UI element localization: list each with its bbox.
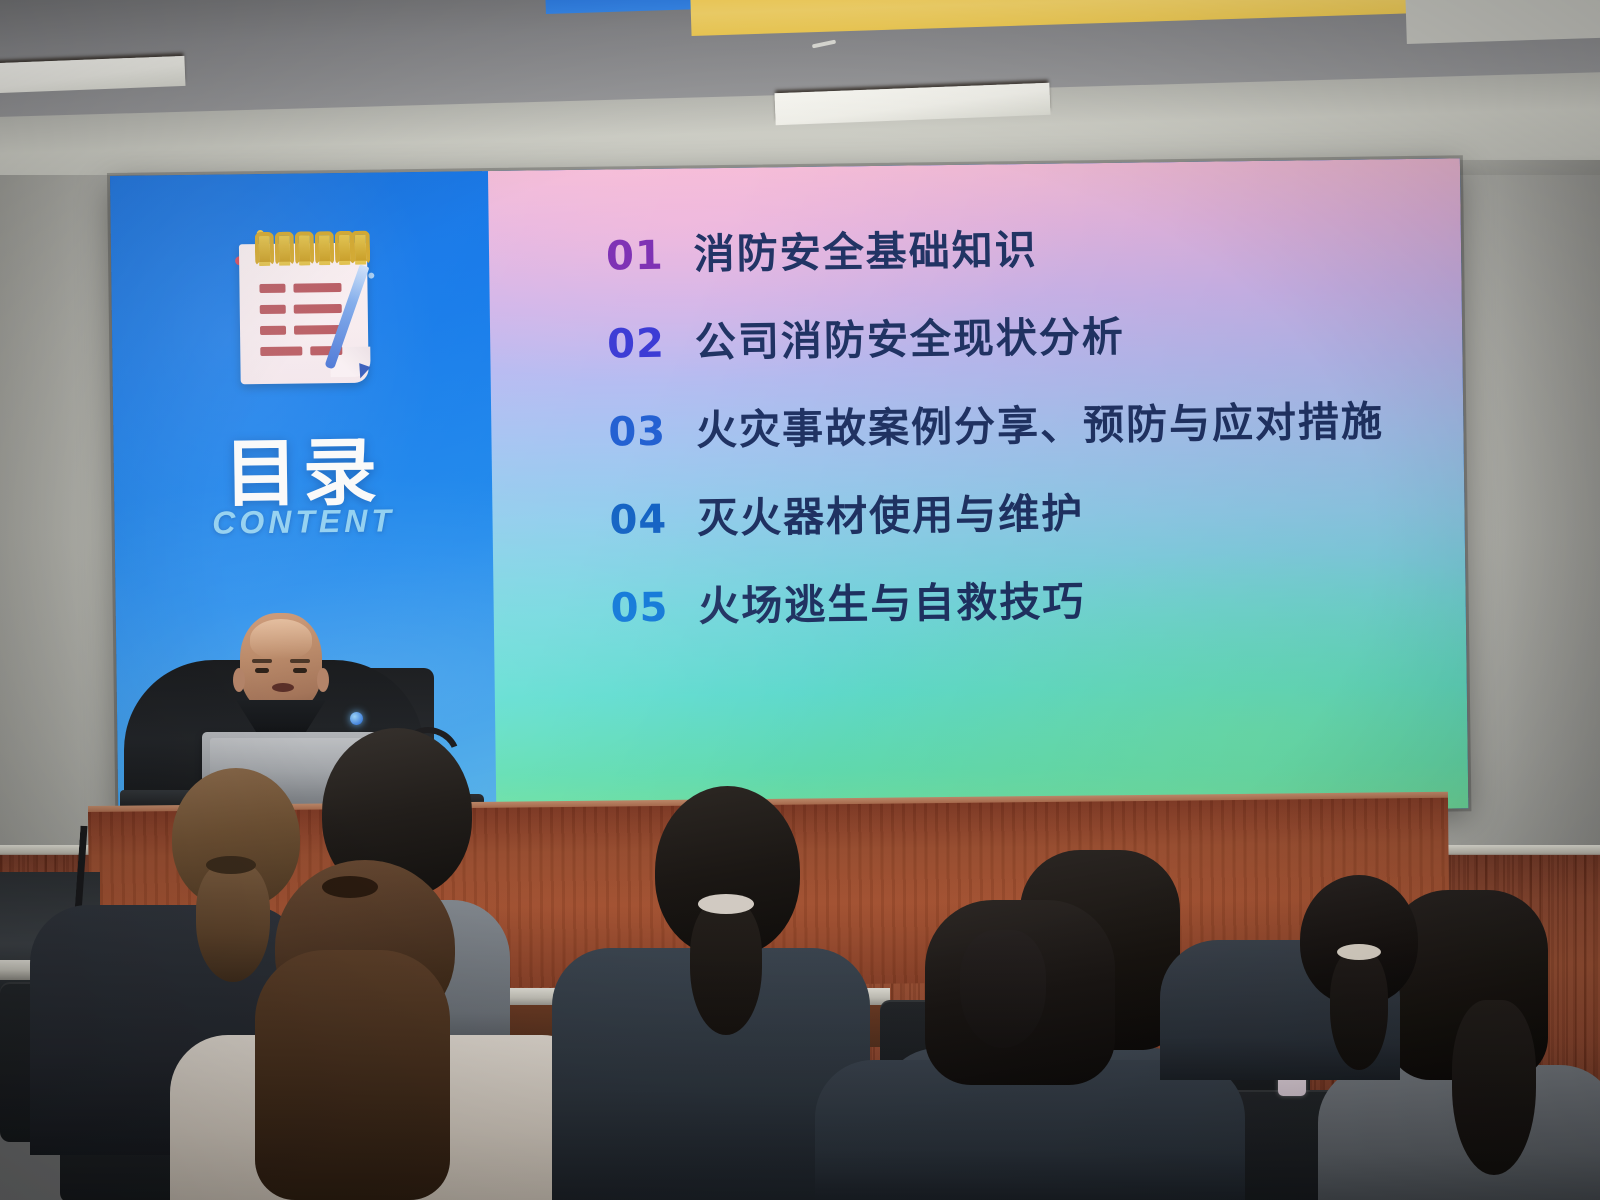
conference-room-scene: 目录 CONTENT 01 消防安全基础知识 02 公司消防安全现状分析 03 …	[0, 0, 1600, 1200]
attendee-ponytail	[1452, 1000, 1536, 1175]
notepad-ring-icon	[295, 231, 314, 265]
hair-tie	[206, 856, 256, 874]
notepad-icon	[229, 224, 381, 391]
blue-lapel-badge-icon	[350, 712, 363, 725]
ceiling-white-panel	[1405, 0, 1600, 44]
toc-label: 灭火器材使用与维护	[697, 479, 1085, 544]
attendee-ponytail	[1330, 950, 1388, 1070]
decor-dot-icon	[368, 273, 374, 279]
notepad-ring-icon	[255, 232, 274, 266]
decor-dot-icon	[240, 332, 247, 339]
notepad-ring-icon	[315, 231, 334, 265]
ear	[317, 668, 329, 692]
eyebrow	[290, 659, 310, 663]
toc-number: 05	[610, 585, 668, 632]
attendee-ponytail	[690, 900, 762, 1035]
attendee-ponytail	[196, 862, 270, 982]
presenter-head	[240, 613, 322, 713]
toc-item: 03 火灾事故案例分享、预防与应对措施	[608, 387, 1438, 486]
toc-label: 公司消防安全现状分析	[694, 303, 1125, 369]
notepad-text-line	[294, 325, 342, 335]
notepad-ring-icon	[335, 231, 354, 265]
notepad-text-line	[260, 326, 286, 335]
decor-dot-icon	[235, 256, 244, 265]
attendee-hair	[255, 950, 450, 1200]
toc-item: 01 消防安全基础知识	[606, 211, 1436, 310]
notepad-text-line	[260, 305, 286, 314]
toc-item: 02 公司消防安全现状分析	[607, 299, 1437, 398]
mouth	[272, 683, 294, 692]
notepad-page	[239, 243, 369, 385]
ear	[233, 668, 245, 692]
pen-icon	[324, 264, 369, 369]
toc-number: 03	[608, 409, 666, 456]
attendee-hair-bun	[960, 930, 1046, 1048]
slide-title-en: CONTENT	[114, 501, 492, 543]
eye	[293, 668, 307, 673]
toc-label: 火场逃生与自救技巧	[698, 567, 1086, 632]
decor-dot-icon	[257, 230, 264, 237]
pen-tip-icon	[355, 363, 371, 380]
hair-tie	[1337, 944, 1381, 960]
eyebrow	[252, 659, 272, 663]
notepad-page-curl	[330, 347, 370, 378]
notepad-ring-icon	[275, 232, 294, 266]
slide-title-cn: 目录	[113, 411, 492, 523]
table-of-contents: 01 消防安全基础知识 02 公司消防安全现状分析 03 火灾事故案例分享、预防…	[606, 211, 1441, 662]
notepad-text-line	[260, 346, 302, 356]
toc-number: 02	[607, 321, 665, 368]
notepad-text-line	[293, 283, 341, 293]
notepad-ring-icon	[351, 231, 370, 265]
hair-tie	[322, 876, 378, 898]
decor-dot-icon	[244, 292, 250, 298]
toc-item: 04 灭火器材使用与维护	[609, 475, 1439, 574]
notepad-text-line	[310, 346, 342, 355]
toc-number: 01	[606, 233, 664, 280]
toc-label: 火灾事故案例分享、预防与应对措施	[696, 387, 1385, 456]
toc-number: 04	[609, 497, 667, 544]
hair-tie	[698, 894, 754, 914]
notepad-text-line	[294, 304, 342, 314]
toc-label: 消防安全基础知识	[693, 216, 1038, 280]
notepad-text-line	[259, 284, 285, 293]
eye	[255, 668, 269, 673]
toc-item: 05 火场逃生与自救技巧	[610, 563, 1440, 662]
